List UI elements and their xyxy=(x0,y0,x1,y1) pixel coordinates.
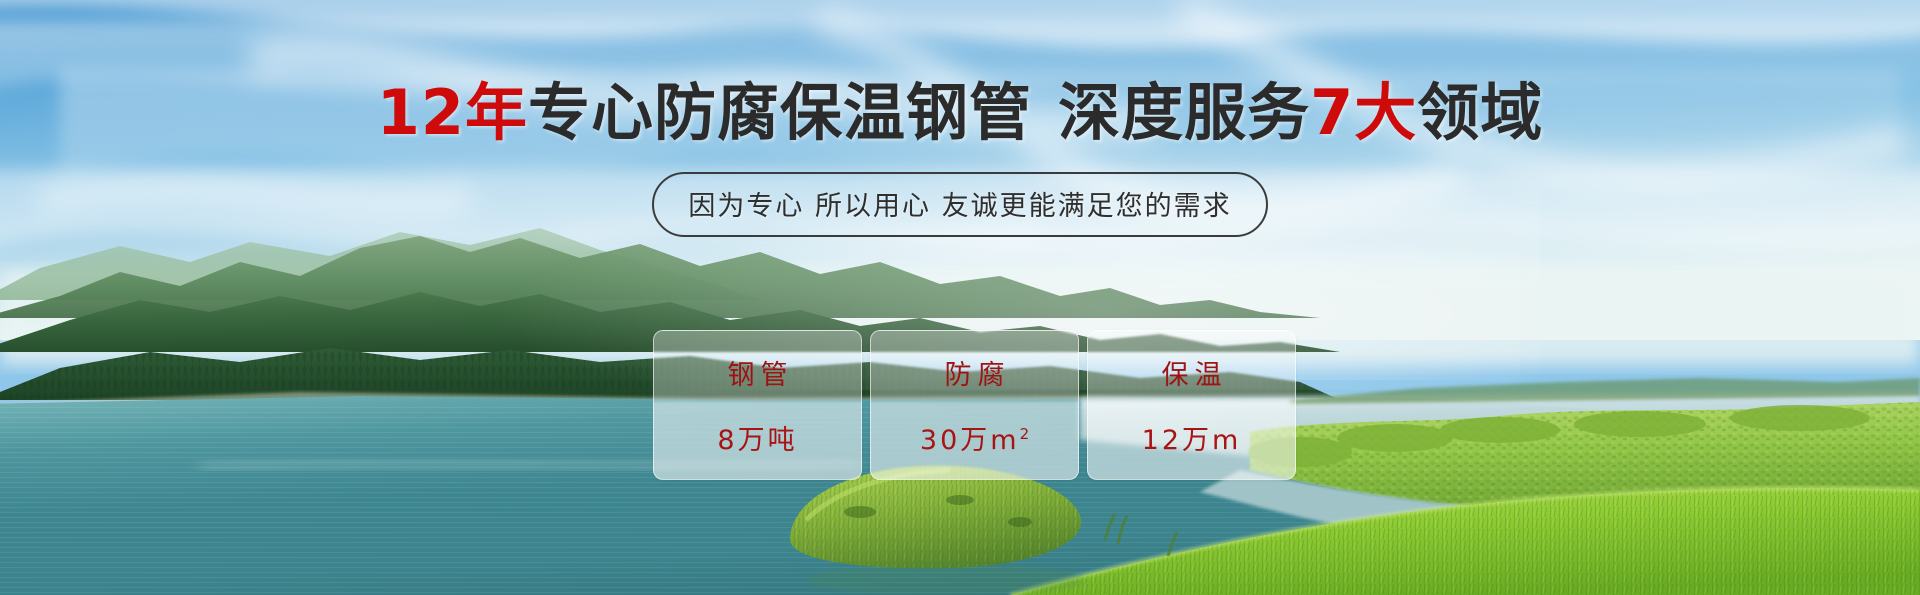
stat-card-insulation[interactable]: 保温 12万m xyxy=(1087,330,1296,480)
headline-segment-specialty: 专心防腐保温钢管 xyxy=(528,76,1032,149)
stat-card-steel-pipe[interactable]: 钢管 8万吨 xyxy=(653,330,862,480)
stat-cards: 钢管 8万吨 防腐 30万m2 保温 12万m xyxy=(653,330,1296,480)
headline-segment-fields: 领域 xyxy=(1417,76,1543,149)
stat-card-value: 8万吨 xyxy=(717,418,797,457)
hero-banner: 12年专心防腐保温钢管深度服务7大领域 因为专心 所以用心 友诚更能满足您的需求… xyxy=(0,0,1920,595)
banner-content: 12年专心防腐保温钢管深度服务7大领域 因为专心 所以用心 友诚更能满足您的需求… xyxy=(0,0,1920,595)
subtitle-container: 因为专心 所以用心 友诚更能满足您的需求 xyxy=(0,172,1920,237)
headline-segment-years: 12年 xyxy=(377,76,528,149)
stat-card-value: 12万m xyxy=(1142,418,1242,457)
stat-card-value-main: 8万吨 xyxy=(717,425,797,456)
stat-card-value-main: 12万m xyxy=(1142,425,1242,456)
stat-card-label: 保温 xyxy=(1156,353,1228,392)
stat-card-value-main: 30万m xyxy=(920,425,1020,456)
stat-card-label: 钢管 xyxy=(722,353,794,392)
stat-card-value-superscript: 2 xyxy=(1020,425,1030,443)
headline-segment-seven: 7大 xyxy=(1310,76,1417,149)
stat-card-label: 防腐 xyxy=(939,353,1011,392)
headline: 12年专心防腐保温钢管深度服务7大领域 xyxy=(0,82,1920,144)
stat-card-anticorrosion[interactable]: 防腐 30万m2 xyxy=(870,330,1079,480)
headline-segment-service: 深度服务 xyxy=(1058,76,1310,149)
subtitle-pill: 因为专心 所以用心 友诚更能满足您的需求 xyxy=(652,172,1267,237)
stat-card-value: 30万m2 xyxy=(920,418,1029,457)
